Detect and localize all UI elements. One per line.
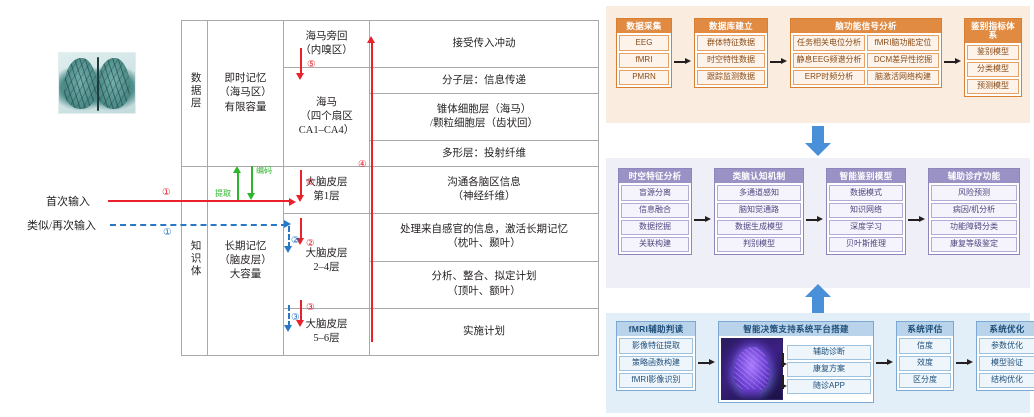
connector-arrowhead bbox=[709, 359, 715, 365]
group-column: 数据模式 知识网络 深度学习 贝叶斯推理 bbox=[829, 185, 903, 252]
group-decision-support-platform: 智能决策支持系统平台搭建 辅助诊断 康复方案 随诊APP bbox=[718, 321, 874, 403]
cell-item[interactable]: 任务相关电位分析 bbox=[793, 35, 865, 50]
cell-item[interactable]: 多通道感知 bbox=[717, 185, 801, 200]
group-column: fMRI脑功能定位 DCM差异性挖掘 脑激活网络构建 bbox=[867, 35, 939, 85]
group-body: 任务相关电位分析 静息EEG频谱分析 ERP时频分析 fMRI脑功能定位 DCM… bbox=[791, 33, 941, 87]
cell-item[interactable]: 盲源分离 bbox=[621, 185, 689, 200]
marker-blue-2: ② bbox=[291, 236, 300, 246]
marker-red-2: ② bbox=[306, 239, 315, 249]
region-label: 大脑皮层 2–4层 bbox=[306, 248, 348, 273]
ai-brain-illustration bbox=[721, 338, 783, 400]
cell-item[interactable]: 跟踪监测数据 bbox=[697, 70, 765, 85]
connector-arrowhead bbox=[685, 58, 691, 64]
arrow-head bbox=[805, 143, 831, 156]
cell-item[interactable]: 分类模型 bbox=[967, 62, 1019, 77]
cell-function-7: 分析、整合、拟定计划 （顶叶、额叶） bbox=[370, 261, 599, 308]
marker-red-4: ④ bbox=[358, 160, 367, 170]
group-body: 辅助诊断 康复方案 随诊APP bbox=[719, 336, 873, 402]
arrow-6-shaft bbox=[300, 170, 302, 197]
cell-item[interactable]: 鉴别模型 bbox=[967, 45, 1019, 60]
cell-item[interactable]: 策略函数构建 bbox=[619, 356, 693, 371]
cell-item[interactable]: 模型验证 bbox=[979, 356, 1034, 371]
group-title: 鉴别指标体系 bbox=[965, 19, 1021, 43]
group-body: 盲源分离 信息融合 数据挖掘 关联构建 bbox=[619, 183, 691, 254]
connector-4 bbox=[694, 216, 712, 224]
group-column: 辅助诊断 康复方案 随诊APP bbox=[787, 345, 871, 395]
cell-function-4: 多形层：投射纤维 bbox=[370, 141, 599, 167]
cell-item[interactable]: 时空特性数据 bbox=[697, 53, 765, 68]
cell-function-1: 接受传入冲动 bbox=[370, 21, 599, 68]
arrow-stem bbox=[812, 297, 824, 314]
label-encode: 编码 bbox=[256, 165, 272, 176]
region-label: 海马 （四个扇区 CA1–CA4） bbox=[299, 97, 354, 136]
group-spatiotemporal-analysis: 时空特征分析 盲源分离 信息融合 数据挖掘 关联构建 bbox=[618, 168, 692, 255]
group-body: 风险预测 病因/机分析 功能障碍分类 康复等级鉴定 bbox=[929, 183, 1019, 254]
group-body: EEG fMRI PMRN bbox=[617, 33, 671, 87]
table-row: 知识体 长期记忆 （脑皮层） 大容量 大脑皮层 第1层 沟通各脑区信息 （神经纤… bbox=[182, 167, 599, 214]
group-column: 参数优化 模型验证 结构优化 bbox=[979, 338, 1034, 388]
arrow-blue3-head bbox=[284, 325, 292, 332]
cell-item[interactable]: 数据生成模型 bbox=[717, 220, 801, 235]
group-intelligent-discrimination-model: 智能鉴别模型 数据模式 知识网络 深度学习 贝叶斯推理 bbox=[826, 168, 906, 255]
cell-item[interactable]: 风险预测 bbox=[931, 185, 1017, 200]
group-assisted-diagnosis-function: 辅助诊疗功能 风险预测 病因/机分析 功能障碍分类 康复等级鉴定 bbox=[928, 168, 1020, 255]
function-label: 处理来自感官的信息，激活长期记忆 （枕叶、颞叶） bbox=[400, 224, 568, 249]
connector-8 bbox=[876, 359, 894, 367]
cell-region-cortex-layer1: 大脑皮层 第1层 bbox=[284, 167, 370, 214]
cell-item[interactable]: fMRI bbox=[619, 53, 669, 68]
marker-red-6: ⑥ bbox=[306, 178, 315, 188]
cell-item[interactable]: 病因/机分析 bbox=[931, 203, 1017, 218]
connector-arrowhead bbox=[705, 216, 711, 222]
group-title: 类脑认知机制 bbox=[715, 169, 803, 183]
connector-arrowhead bbox=[817, 216, 823, 222]
group-body: 群体特征数据 时空特性数据 跟踪监测数据 bbox=[695, 33, 767, 87]
arrow-head bbox=[805, 284, 831, 297]
function-label: 沟通各脑区信息 （神经纤维） bbox=[447, 177, 521, 202]
cell-item[interactable]: PMRN bbox=[619, 70, 669, 85]
group-column: 风险预测 病因/机分析 功能障碍分类 康复等级鉴定 bbox=[931, 185, 1017, 252]
cognition-model-band: 时空特征分析 盲源分离 信息融合 数据挖掘 关联构建 类脑认知机制 bbox=[606, 158, 1030, 288]
cell-item[interactable]: 判别模型 bbox=[717, 237, 801, 252]
arrow-4-head bbox=[367, 36, 375, 43]
cell-item[interactable]: 预测模型 bbox=[967, 79, 1019, 94]
function-label: 分子层：信息传递 bbox=[442, 75, 526, 86]
brain-right-hemisphere bbox=[97, 58, 130, 110]
connector-arrowhead bbox=[919, 216, 925, 222]
arrow-retrieve-shaft bbox=[237, 172, 239, 200]
cell-item[interactable]: 数据挖掘 bbox=[621, 220, 689, 235]
label-repeat-input: 类似/再次输入 bbox=[27, 217, 96, 233]
brain-longitudinal-fissure bbox=[97, 57, 99, 111]
connector-arrowhead bbox=[887, 359, 893, 365]
function-label: 接受传入冲动 bbox=[453, 38, 516, 49]
cell-memory-immediate: 即时记忆 （海马区） 有限容量 bbox=[208, 21, 284, 167]
diagram-canvas: 数据层 即时记忆 （海马区） 有限容量 海马旁回 （内嗅区） 接受传入冲动 海马… bbox=[0, 0, 1034, 417]
cell-item[interactable]: 随诊APP bbox=[787, 379, 871, 394]
cell-item[interactable]: 参数优化 bbox=[979, 338, 1034, 353]
group-body: 数据模式 知识网络 深度学习 贝叶斯推理 bbox=[827, 183, 905, 254]
group-body: 多通道感知 脑知觉通路 数据生成模型 判别模型 bbox=[715, 183, 803, 254]
group-title: 辅助诊疗功能 bbox=[929, 169, 1019, 183]
cell-function-6: 处理来自感官的信息，激活长期记忆 （枕叶、颞叶） bbox=[370, 214, 599, 261]
group-brain-inspired-cognition: 类脑认知机制 多通道感知 脑知觉通路 数据生成模型 判别模型 bbox=[714, 168, 804, 255]
cell-function-2: 分子层：信息传递 bbox=[370, 68, 599, 94]
brain-left-hemisphere bbox=[64, 58, 97, 110]
band-connector-up-arrow bbox=[805, 284, 831, 314]
arrow-retrieve-head bbox=[233, 166, 241, 173]
cell-item[interactable]: 功能障碍分类 bbox=[931, 220, 1017, 235]
brain-neck bbox=[742, 389, 760, 400]
group-title: 系统评估 bbox=[897, 322, 953, 336]
function-label: 多形层：投射纤维 bbox=[442, 148, 526, 159]
cell-item[interactable]: fMRI脑功能定位 bbox=[867, 35, 939, 50]
table-row: 数据层 即时记忆 （海马区） 有限容量 海马旁回 （内嗅区） 接受传入冲动 bbox=[182, 21, 599, 68]
group-system-evaluation: 系统评估 信度 效度 区分度 bbox=[896, 321, 954, 391]
memory-label: 长期记忆 （脑皮层） 大容量 bbox=[219, 241, 272, 280]
arrow-encode-shaft bbox=[251, 166, 253, 194]
arrow-4-shaft bbox=[371, 42, 373, 342]
group-title: 时空特征分析 bbox=[619, 169, 691, 183]
group-brain-signal-analysis: 脑功能信号分析 任务相关电位分析 静息EEG频谱分析 ERP时频分析 fMRI脑… bbox=[790, 18, 942, 88]
arrow-5-head bbox=[296, 73, 304, 80]
arrow-stem bbox=[812, 126, 824, 143]
arrow-red2-shaft bbox=[300, 218, 302, 240]
cell-layer-data: 数据层 bbox=[182, 21, 208, 167]
memory-layers-table: 数据层 即时记忆 （海马区） 有限容量 海马旁回 （内嗅区） 接受传入冲动 海马… bbox=[181, 20, 599, 356]
platform-band: fMRI辅助判读 影像特征提取 策略函数构建 fMRI影像识别 智能决策支持系统… bbox=[606, 313, 1030, 413]
arrow-first-input-head bbox=[289, 198, 296, 206]
arrow-repeat-input-shaft bbox=[110, 224, 287, 226]
connector-1 bbox=[674, 58, 692, 66]
cell-layer-knowledge: 知识体 bbox=[182, 167, 208, 356]
cell-item[interactable]: EEG bbox=[619, 35, 669, 50]
memory-model-diagram: 数据层 即时记忆 （海马区） 有限容量 海马旁回 （内嗅区） 接受传入冲动 海马… bbox=[0, 0, 600, 417]
cell-item[interactable]: 深度学习 bbox=[829, 220, 903, 235]
connector-6 bbox=[908, 216, 926, 224]
connector-arrowhead bbox=[781, 58, 787, 64]
group-title: 数据库建立 bbox=[695, 19, 767, 33]
cell-item[interactable]: 贝叶斯推理 bbox=[829, 237, 903, 252]
cell-item[interactable]: 效度 bbox=[899, 356, 951, 371]
marker-red-1: ① bbox=[162, 188, 171, 198]
cell-item[interactable]: 康复方案 bbox=[787, 362, 871, 377]
group-column: 任务相关电位分析 静息EEG频谱分析 ERP时频分析 bbox=[793, 35, 865, 85]
cell-function-5: 沟通各脑区信息 （神经纤维） bbox=[370, 167, 599, 214]
cell-item[interactable]: 区分度 bbox=[899, 373, 951, 388]
connector-2 bbox=[770, 58, 788, 66]
group-column: 信度 效度 区分度 bbox=[899, 338, 951, 388]
cell-item[interactable]: 知识网络 bbox=[829, 203, 903, 218]
function-label: 实施计划 bbox=[463, 326, 505, 337]
marker-red-5: ⑤ bbox=[307, 60, 316, 70]
cell-item[interactable]: 信度 bbox=[899, 338, 951, 353]
arrow-5-shaft bbox=[300, 48, 302, 75]
group-database-building: 数据库建立 群体特征数据 时空特性数据 跟踪监测数据 bbox=[694, 18, 768, 88]
arrow-encode-head bbox=[247, 193, 255, 200]
connector-5 bbox=[806, 216, 824, 224]
group-title: 系统优化 bbox=[977, 322, 1034, 336]
group-column: EEG fMRI PMRN bbox=[619, 35, 669, 85]
label-first-input: 首次输入 bbox=[46, 193, 90, 209]
cell-item[interactable]: 脑激活网络构建 bbox=[867, 70, 939, 85]
group-system-optimization: 系统优化 参数优化 模型验证 结构优化 bbox=[976, 321, 1034, 391]
group-data-collection: 数据采集 EEG fMRI PMRN bbox=[616, 18, 672, 88]
internal-connector-arrowhead bbox=[781, 361, 787, 367]
cell-item[interactable]: 信息融合 bbox=[621, 203, 689, 218]
cell-item[interactable]: 康复等级鉴定 bbox=[931, 237, 1017, 252]
internal-connector-arrowhead bbox=[781, 383, 787, 389]
cell-item[interactable]: 关联构建 bbox=[621, 237, 689, 252]
arrow-first-input-shaft bbox=[108, 200, 291, 202]
group-body: 鉴别模型 分类模型 预测模型 bbox=[965, 43, 1021, 97]
layer-label: 知识体 bbox=[187, 240, 201, 278]
cell-item[interactable]: 辅助诊断 bbox=[787, 345, 871, 360]
connector-arrowhead bbox=[967, 359, 973, 365]
cell-function-8: 实施计划 bbox=[370, 308, 599, 355]
arrow-6-head bbox=[296, 195, 304, 202]
region-label: 海马旁回 （内嗅区） bbox=[300, 31, 353, 56]
group-title: 智能鉴别模型 bbox=[827, 169, 905, 183]
research-framework-diagram: 数据采集 EEG fMRI PMRN 数据库建立 群体特征数据 bbox=[600, 0, 1034, 417]
connector-arrowhead bbox=[955, 58, 961, 64]
marker-blue-3: ③ bbox=[291, 313, 300, 323]
layer-label: 数据层 bbox=[187, 72, 201, 110]
brain-top-view-photo bbox=[58, 52, 136, 114]
marker-blue-1: ① bbox=[163, 228, 172, 238]
label-retrieve: 提取 bbox=[215, 188, 231, 199]
data-analysis-band: 数据采集 EEG fMRI PMRN 数据库建立 群体特征数据 bbox=[606, 6, 1030, 123]
group-column: 影像特征提取 策略函数构建 fMRI影像识别 bbox=[619, 338, 693, 388]
arrow-blue2-head bbox=[284, 246, 292, 253]
arrow-blue3-shaft bbox=[288, 305, 290, 327]
group-title: 数据采集 bbox=[617, 19, 671, 33]
group-column: 多通道感知 脑知觉通路 数据生成模型 判别模型 bbox=[717, 185, 801, 252]
group-column: 鉴别模型 分类模型 预测模型 bbox=[967, 45, 1019, 95]
cell-item[interactable]: 影像特征提取 bbox=[619, 338, 693, 353]
group-title: fMRI辅助判读 bbox=[617, 322, 695, 336]
cell-item[interactable]: ERP时频分析 bbox=[793, 70, 865, 85]
cell-item[interactable]: 数据模式 bbox=[829, 185, 903, 200]
cell-region-parahippocampal: 海马旁回 （内嗅区） bbox=[284, 21, 370, 68]
cell-item[interactable]: fMRI影像识别 bbox=[619, 373, 693, 388]
connector-7 bbox=[698, 359, 716, 367]
connector-9 bbox=[956, 359, 974, 367]
group-title: 智能决策支持系统平台搭建 bbox=[719, 322, 873, 336]
function-label: 锥体细胞层（海马） /颗粒细胞层（齿状回） bbox=[430, 104, 538, 129]
cell-function-3: 锥体细胞层（海马） /颗粒细胞层（齿状回） bbox=[370, 94, 599, 141]
cell-item[interactable]: DCM差异性挖掘 bbox=[867, 53, 939, 68]
cell-item[interactable]: 结构优化 bbox=[979, 373, 1034, 388]
group-body: 信度 效度 区分度 bbox=[897, 336, 953, 390]
function-label: 分析、整合、拟定计划 （顶叶、额叶） bbox=[432, 271, 537, 296]
group-fmri-assisted-reading: fMRI辅助判读 影像特征提取 策略函数构建 fMRI影像识别 bbox=[616, 321, 696, 391]
group-discrimination-index: 鉴别指标体系 鉴别模型 分类模型 预测模型 bbox=[964, 18, 1022, 97]
cell-region-hippocampus: 海马 （四个扇区 CA1–CA4） bbox=[284, 68, 370, 167]
band-connector-down-arrow bbox=[805, 126, 831, 156]
cell-region-cortex-layer24: 大脑皮层 2–4层 bbox=[284, 214, 370, 308]
memory-label: 即时记忆 （海马区） 有限容量 bbox=[219, 73, 272, 112]
cell-item[interactable]: 脑知觉通路 bbox=[717, 203, 801, 218]
group-column: 盲源分离 信息融合 数据挖掘 关联构建 bbox=[621, 185, 689, 252]
cell-item[interactable]: 群体特征数据 bbox=[697, 35, 765, 50]
cell-item[interactable]: 静息EEG频谱分析 bbox=[793, 53, 865, 68]
group-body: 影像特征提取 策略函数构建 fMRI影像识别 bbox=[617, 336, 695, 390]
group-title: 脑功能信号分析 bbox=[791, 19, 941, 33]
group-body: 参数优化 模型验证 结构优化 bbox=[977, 336, 1034, 390]
arrow-blue2-shaft bbox=[288, 226, 290, 248]
connector-3 bbox=[944, 58, 962, 66]
group-column: 群体特征数据 时空特性数据 跟踪监测数据 bbox=[697, 35, 765, 85]
arrow-red3-shaft bbox=[300, 300, 302, 322]
marker-red-3: ③ bbox=[306, 303, 315, 313]
region-label: 大脑皮层 5–6层 bbox=[306, 319, 348, 344]
brain-silhouette bbox=[734, 347, 769, 394]
